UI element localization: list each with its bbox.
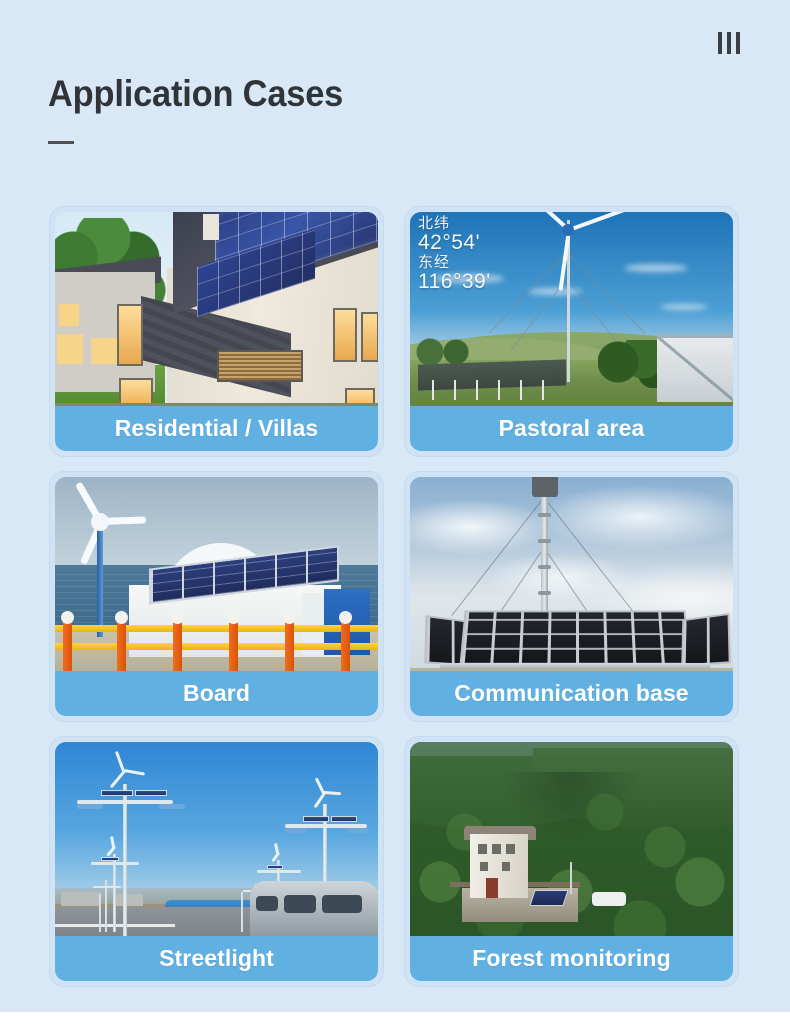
page-title: Application Cases (48, 73, 343, 115)
application-cases-grid: Residential / Villas (50, 207, 738, 986)
case-image-pastoral-area: 北纬 42°54' 东经 116°39' (410, 212, 733, 417)
case-caption-pastoral-area: Pastoral area (410, 406, 733, 451)
case-card-residential-villas[interactable]: Residential / Villas (50, 207, 383, 456)
case-caption-board: Board (55, 671, 378, 716)
case-caption-residential-villas: Residential / Villas (55, 406, 378, 451)
case-card-board[interactable]: Board (50, 472, 383, 721)
case-image-communication-base (410, 477, 733, 682)
menu-bar-1 (718, 32, 722, 54)
case-card-streetlight[interactable]: Streetlight (50, 737, 383, 986)
menu-icon[interactable] (718, 32, 740, 54)
case-image-residential-villas (55, 212, 378, 417)
menu-bar-2 (727, 32, 731, 54)
case-card-pastoral-area[interactable]: 北纬 42°54' 东经 116°39' Pastoral area (405, 207, 738, 456)
menu-bar-3 (736, 32, 740, 54)
case-image-board (55, 477, 378, 682)
case-image-forest-monitoring (410, 742, 733, 947)
case-image-streetlight (55, 742, 378, 947)
application-cases-page: Application Cases (0, 0, 790, 1027)
case-card-forest-monitoring[interactable]: Forest monitoring (405, 737, 738, 986)
case-caption-communication-base: Communication base (410, 671, 733, 716)
case-caption-forest-monitoring: Forest monitoring (410, 936, 733, 981)
title-underline-rule (48, 141, 74, 144)
case-caption-streetlight: Streetlight (55, 936, 378, 981)
case-card-communication-base[interactable]: Communication base (405, 472, 738, 721)
